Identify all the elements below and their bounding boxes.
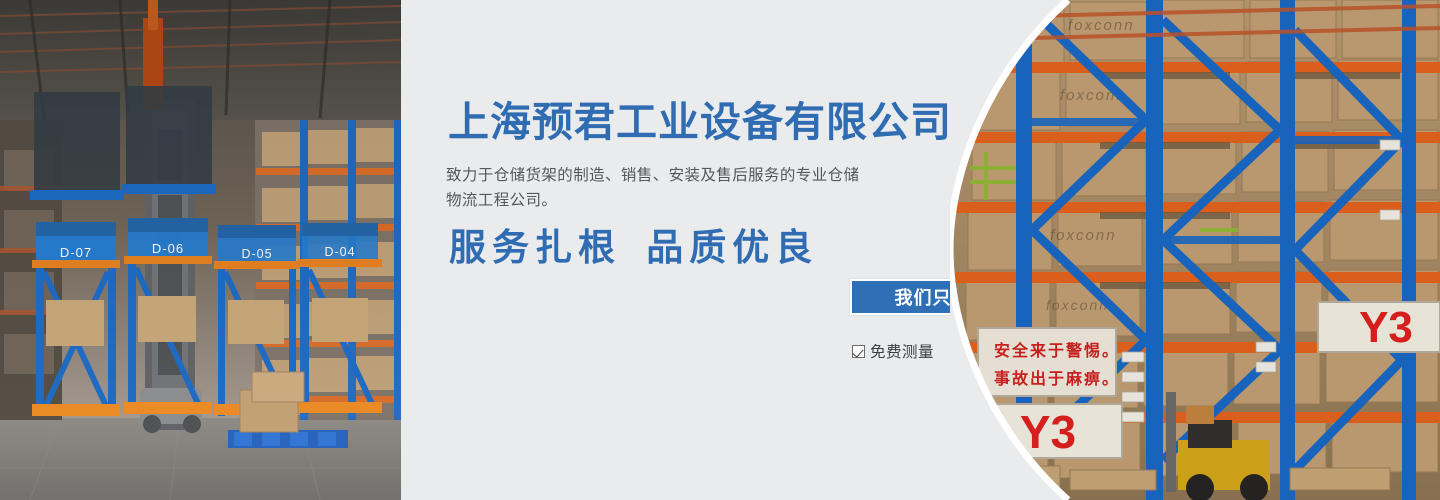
banner-slogan: 服务扎根 品质优良 — [449, 226, 818, 272]
banner-text-panel: 上海预君工业设备有限公司 致力于仓储货架的制造、销售、安装及售后服务的专业仓储物… — [401, 0, 1001, 500]
banner-subtitle: 致力于仓储货架的制造、销售、安装及售后服务的专业仓储物流工程公司。 — [446, 163, 866, 213]
feature-item: 免费测量 — [852, 340, 934, 362]
right-warehouse-photo: foxconn foxconn foxconn foxconn — [950, 0, 1440, 500]
feature-label: 免费测量 — [870, 340, 934, 362]
page-title: 上海预君工业设备有限公司 — [448, 97, 952, 147]
slogan-part-2: 品质优良 — [646, 228, 818, 269]
left-photo-illustration: D-07 D-06 D-05 — [0, 0, 401, 500]
hero-banner: D-07 D-06 D-05 — [0, 0, 1440, 500]
slogan-part-1: 服务扎根 — [449, 228, 621, 269]
slogan-spacer — [621, 228, 646, 269]
check-icon — [852, 345, 865, 358]
right-photo-illustration: foxconn foxconn foxconn foxconn — [950, 0, 1440, 500]
left-warehouse-photo: D-07 D-06 D-05 — [0, 0, 401, 500]
